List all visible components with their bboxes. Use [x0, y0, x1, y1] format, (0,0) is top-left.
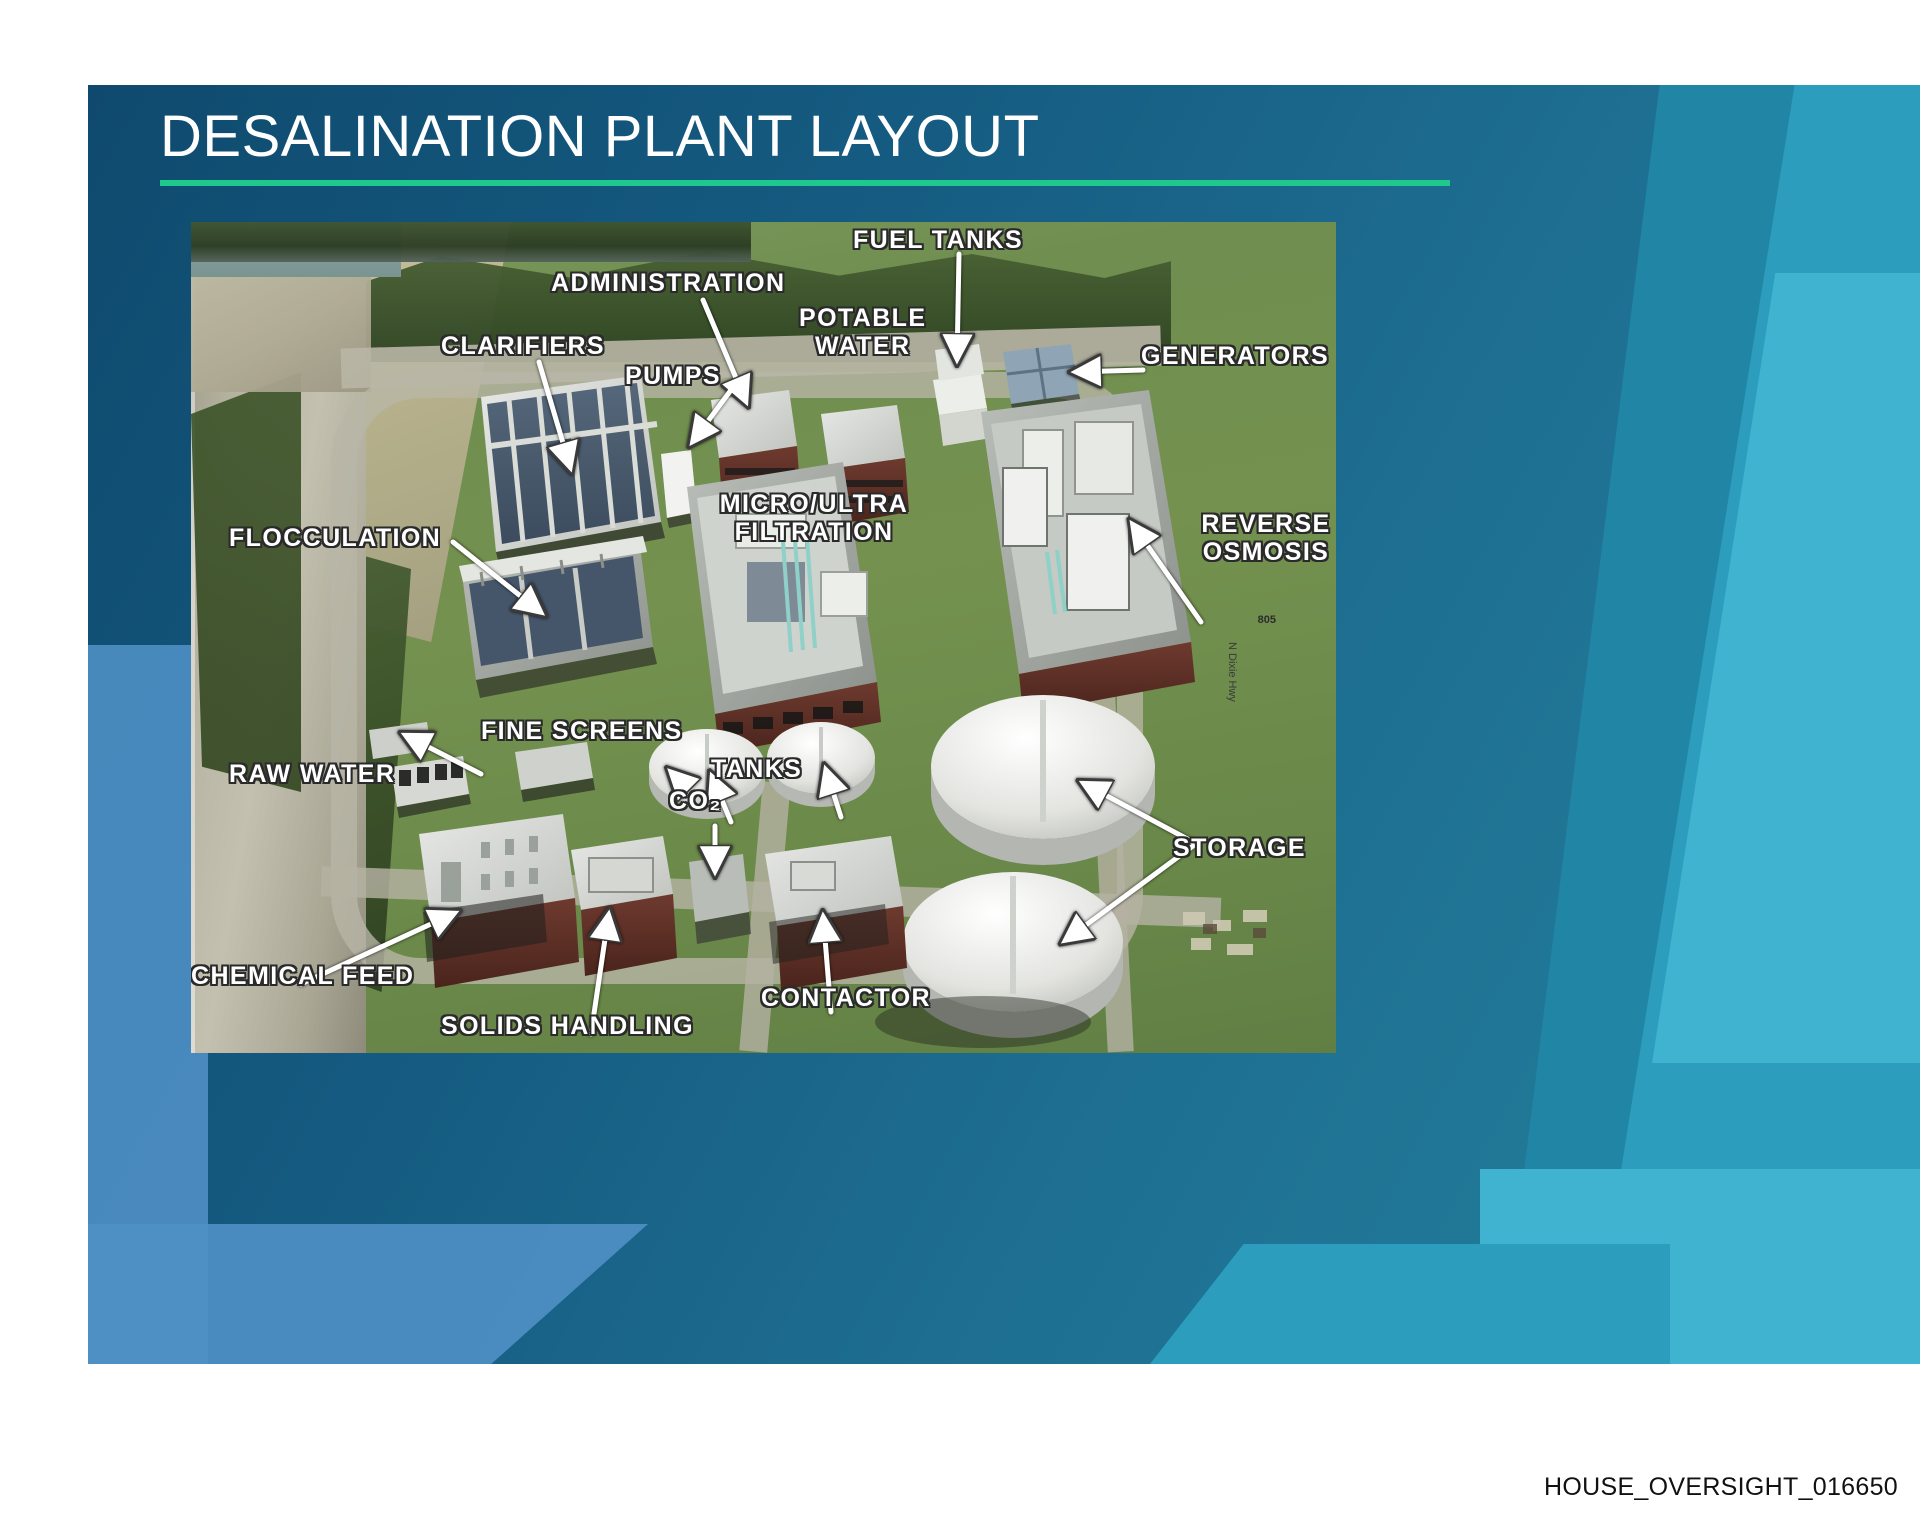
label-pumps: PUMPS	[625, 362, 721, 390]
decorative-angle-shape-3	[1652, 273, 1920, 1063]
slide-canvas: DESALINATION PLANT LAYOUT	[88, 85, 1920, 1364]
label-contactor: CONTACTOR	[761, 984, 931, 1012]
decorative-bar-left	[88, 645, 208, 1364]
decorative-block-bottom-right	[1480, 1169, 1920, 1364]
label-raw-water: RAW WATER	[229, 760, 395, 788]
label-clarifiers: CLARIFIERS	[441, 332, 605, 360]
decorative-block-bottom-mid	[1150, 1244, 1670, 1364]
road-name-label: N Dixie Hwy	[1226, 642, 1238, 702]
page-title: DESALINATION PLANT LAYOUT	[160, 107, 1450, 168]
aerial-plant-photograph: FUEL TANKS ADMINISTRATION POTABLE WATER …	[191, 222, 1336, 1053]
road-shield-label: 805	[1258, 614, 1276, 626]
decorative-angle-shape-2	[1590, 85, 1920, 1364]
document-bates-number: HOUSE_OVERSIGHT_016650	[1544, 1473, 1898, 1502]
label-reverse-osmosis: REVERSE OSMOSIS	[1191, 510, 1336, 566]
label-fuel-tanks: FUEL TANKS	[853, 226, 1023, 254]
label-generators: GENERATORS	[1141, 342, 1329, 370]
label-storage: STORAGE	[1173, 834, 1306, 862]
title-block: DESALINATION PLANT LAYOUT	[160, 107, 1450, 186]
label-tanks: TANKS	[711, 755, 802, 783]
decorative-angle-shape-1	[1500, 85, 1920, 1364]
decorative-block-bottom-left	[88, 1224, 648, 1364]
label-flocculation: FLOCCULATION	[229, 524, 441, 552]
label-potable-water: POTABLE WATER	[799, 304, 926, 360]
label-co2: CO₂	[669, 787, 722, 815]
label-administration: ADMINISTRATION	[551, 269, 785, 297]
title-underline-rule	[160, 180, 1450, 186]
label-chemical-feed: CHEMICAL FEED	[191, 962, 414, 990]
label-solids-handling: SOLIDS HANDLING	[441, 1012, 694, 1040]
label-micro-ultra-filtration: MICRO/ULTRA FILTRATION	[699, 490, 929, 546]
label-fine-screens: FINE SCREENS	[481, 717, 683, 745]
